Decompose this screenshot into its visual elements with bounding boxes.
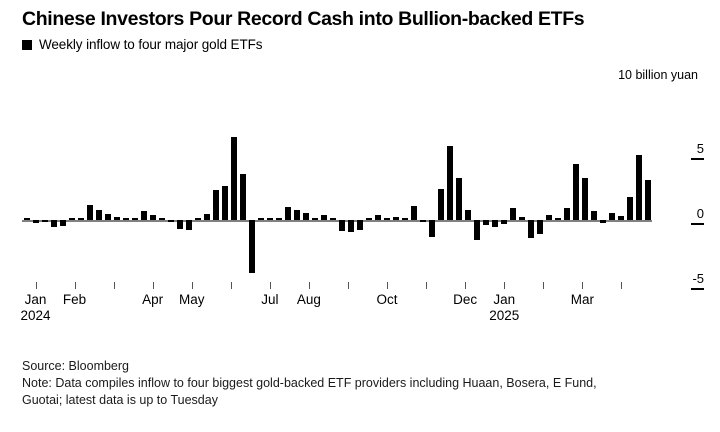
- plot-area: [22, 100, 652, 280]
- y-axis-tick-dash: [691, 158, 704, 160]
- y-axis-tick: -5: [658, 272, 704, 290]
- bar: [501, 220, 507, 224]
- x-axis-tick: [309, 282, 310, 289]
- bar: [519, 217, 525, 220]
- x-axis-year-label: 2025: [489, 308, 519, 323]
- bar: [627, 197, 633, 220]
- bar: [87, 205, 93, 220]
- bar: [636, 155, 642, 220]
- bar: [546, 215, 552, 220]
- legend-swatch-icon: [22, 40, 32, 50]
- bar: [393, 217, 399, 220]
- bar: [195, 218, 201, 220]
- legend-label: Weekly inflow to four major gold ETFs: [39, 37, 262, 52]
- x-axis-tick-label: Dec: [453, 292, 477, 307]
- bar: [609, 213, 615, 220]
- bar: [402, 218, 408, 220]
- bar: [600, 220, 606, 223]
- bar: [456, 178, 462, 220]
- x-axis-tick: [114, 282, 115, 289]
- bar: [267, 218, 273, 220]
- bar: [375, 215, 381, 220]
- x-axis-tick-label: Apr: [142, 292, 163, 307]
- bar: [555, 218, 561, 220]
- bar: [24, 218, 30, 220]
- x-axis-tick-label: Aug: [297, 292, 321, 307]
- x-axis-tick: [582, 282, 583, 289]
- x-axis-tick: [270, 282, 271, 289]
- x-axis: Jan2024FebAprMayJulAugOctDecJan2025MarJu…: [22, 282, 652, 340]
- page-title: Chinese Investors Pour Record Cash into …: [22, 8, 584, 31]
- x-axis-tick: [75, 282, 76, 289]
- bar-series: [22, 100, 652, 280]
- x-axis-tick: [192, 282, 193, 289]
- bar: [339, 220, 345, 231]
- bar: [312, 218, 318, 220]
- legend: Weekly inflow to four major gold ETFs: [22, 37, 262, 52]
- y-axis-tick: 0: [658, 207, 704, 225]
- x-axis-tick: [36, 282, 37, 289]
- x-axis-year-label: 2024: [20, 308, 50, 323]
- x-axis-tick: [543, 282, 544, 289]
- bar: [186, 220, 192, 230]
- bar: [411, 206, 417, 220]
- x-axis-tick: [153, 282, 154, 289]
- bar: [366, 218, 372, 220]
- bar: [582, 178, 588, 220]
- bar: [294, 210, 300, 220]
- bar: [33, 220, 39, 223]
- bar: [465, 210, 471, 220]
- bar: [321, 215, 327, 220]
- bar: [105, 214, 111, 220]
- bar: [330, 218, 336, 220]
- bar: [285, 207, 291, 220]
- bar: [231, 137, 237, 220]
- x-axis-tick: [621, 282, 622, 289]
- x-axis-tick: [465, 282, 466, 289]
- note-text: Note: Data compiles inflow to four bigge…: [22, 375, 702, 409]
- bar: [537, 220, 543, 234]
- bar: [348, 220, 354, 232]
- bar: [222, 186, 228, 220]
- x-axis-tick: [387, 282, 388, 289]
- x-axis-tick: [504, 282, 505, 289]
- y-axis-units-label: 10 billion yuan: [618, 68, 698, 82]
- bar: [240, 174, 246, 220]
- bar: [96, 210, 102, 220]
- y-axis-tick-label: 5: [658, 142, 704, 155]
- x-axis-tick-label: Jul: [261, 292, 278, 307]
- bar: [474, 220, 480, 240]
- bar: [510, 208, 516, 220]
- bar: [483, 220, 489, 225]
- x-axis-tick-label: Feb: [63, 292, 86, 307]
- bar: [438, 189, 444, 220]
- bar: [69, 218, 75, 220]
- bar: [276, 218, 282, 220]
- bar: [78, 218, 84, 220]
- bar: [150, 215, 156, 220]
- y-axis-tick-label: 0: [658, 207, 704, 220]
- y-axis-tick-dash: [691, 223, 704, 225]
- bar: [429, 220, 435, 237]
- bar: [645, 180, 651, 220]
- x-axis-tick-label: Jan2025: [489, 292, 519, 323]
- bar: [258, 218, 264, 220]
- y-axis-tick: 5: [658, 142, 704, 160]
- bar: [114, 217, 120, 220]
- x-axis-tick-label: Jan2024: [20, 292, 50, 323]
- bar: [591, 211, 597, 220]
- bar: [573, 164, 579, 220]
- bar: [123, 218, 129, 220]
- x-axis-tick-label: May: [179, 292, 205, 307]
- bar: [204, 214, 210, 220]
- bar: [132, 218, 138, 220]
- y-axis-tick-dash: [691, 288, 704, 290]
- chart-page: Chinese Investors Pour Record Cash into …: [0, 0, 720, 432]
- bar: [492, 220, 498, 227]
- bar: [303, 213, 309, 220]
- y-axis: 50-5: [658, 100, 720, 300]
- bar: [60, 220, 66, 226]
- bar: [357, 220, 363, 230]
- y-axis-tick-label: -5: [658, 272, 704, 285]
- x-axis-tick-label: Mar: [571, 292, 594, 307]
- bar: [159, 218, 165, 220]
- x-axis-tick: [231, 282, 232, 289]
- bar: [447, 146, 453, 220]
- bar: [564, 208, 570, 220]
- bar: [168, 220, 174, 222]
- bar: [177, 220, 183, 229]
- bar: [51, 220, 57, 227]
- source-text: Source: Bloomberg: [22, 358, 702, 375]
- bar: [420, 220, 426, 222]
- bar: [249, 220, 255, 273]
- x-axis-tick-label: Oct: [377, 292, 398, 307]
- x-axis-tick: [348, 282, 349, 289]
- bar: [42, 220, 48, 222]
- x-axis-tick: [426, 282, 427, 289]
- bar: [141, 211, 147, 220]
- footnotes: Source: Bloomberg Note: Data compiles in…: [22, 358, 702, 409]
- bar: [384, 218, 390, 220]
- bar: [528, 220, 534, 238]
- bar: [618, 216, 624, 220]
- bar: [213, 190, 219, 220]
